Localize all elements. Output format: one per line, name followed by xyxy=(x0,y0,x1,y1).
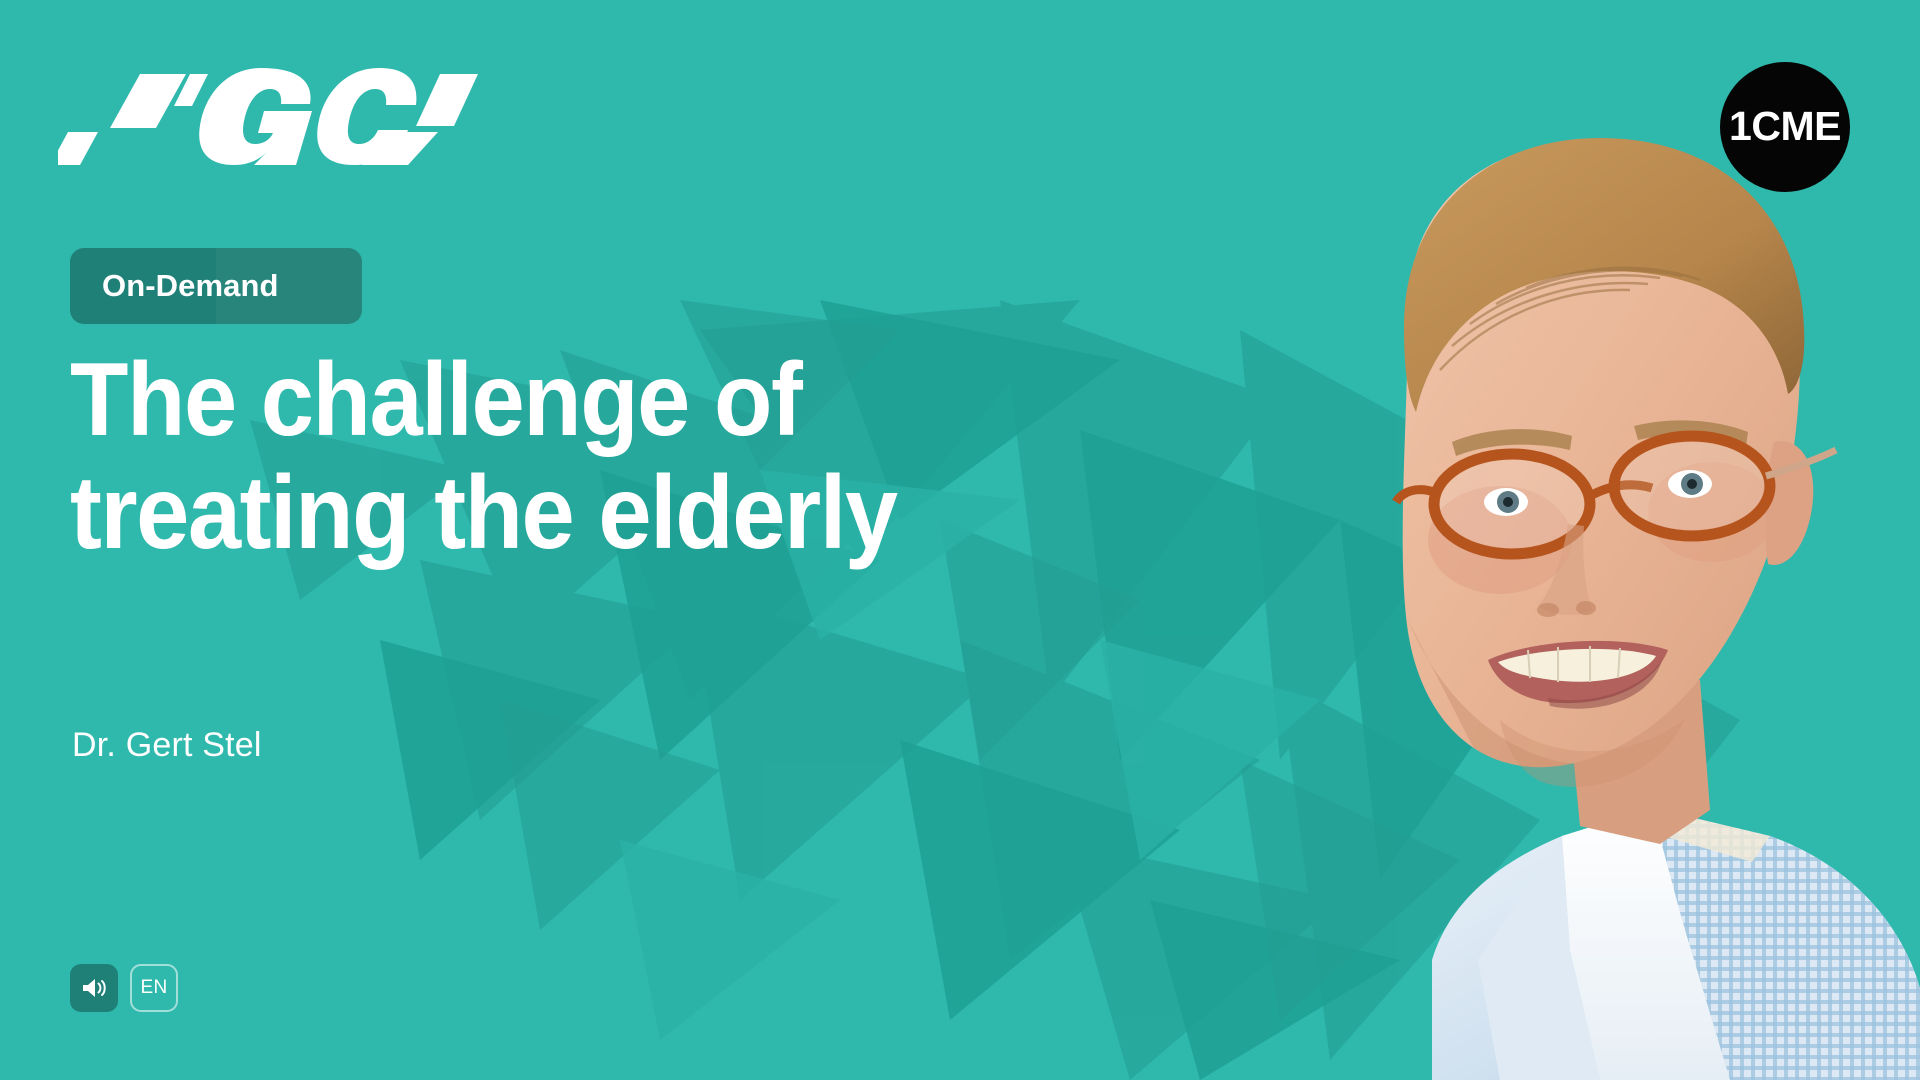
audio-toggle-button[interactable] xyxy=(70,964,118,1012)
availability-label: On-Demand xyxy=(102,268,279,304)
cme-credit-badge: 1CME xyxy=(1720,62,1850,192)
speaker-name: Dr. Gert Stel xyxy=(72,726,262,765)
speaker-volume-icon xyxy=(81,977,107,999)
title-line-1: The challenge of xyxy=(70,344,1100,457)
language-code-label: EN xyxy=(141,977,168,999)
title-line-2: treating the elderly xyxy=(70,457,1100,570)
speaker-portrait xyxy=(1300,120,1920,1080)
player-controls: EN xyxy=(70,964,178,1012)
webinar-title-slide: 1CME xyxy=(0,0,1920,1080)
page-title: The challenge of treating the elderly xyxy=(70,344,1100,571)
language-selector-button[interactable]: EN xyxy=(130,964,178,1012)
cme-credit-label: 1CME xyxy=(1729,106,1841,147)
slide-content: On-Demand The challenge of treating the … xyxy=(70,0,1250,1080)
status-badge: On-Demand xyxy=(70,248,362,324)
